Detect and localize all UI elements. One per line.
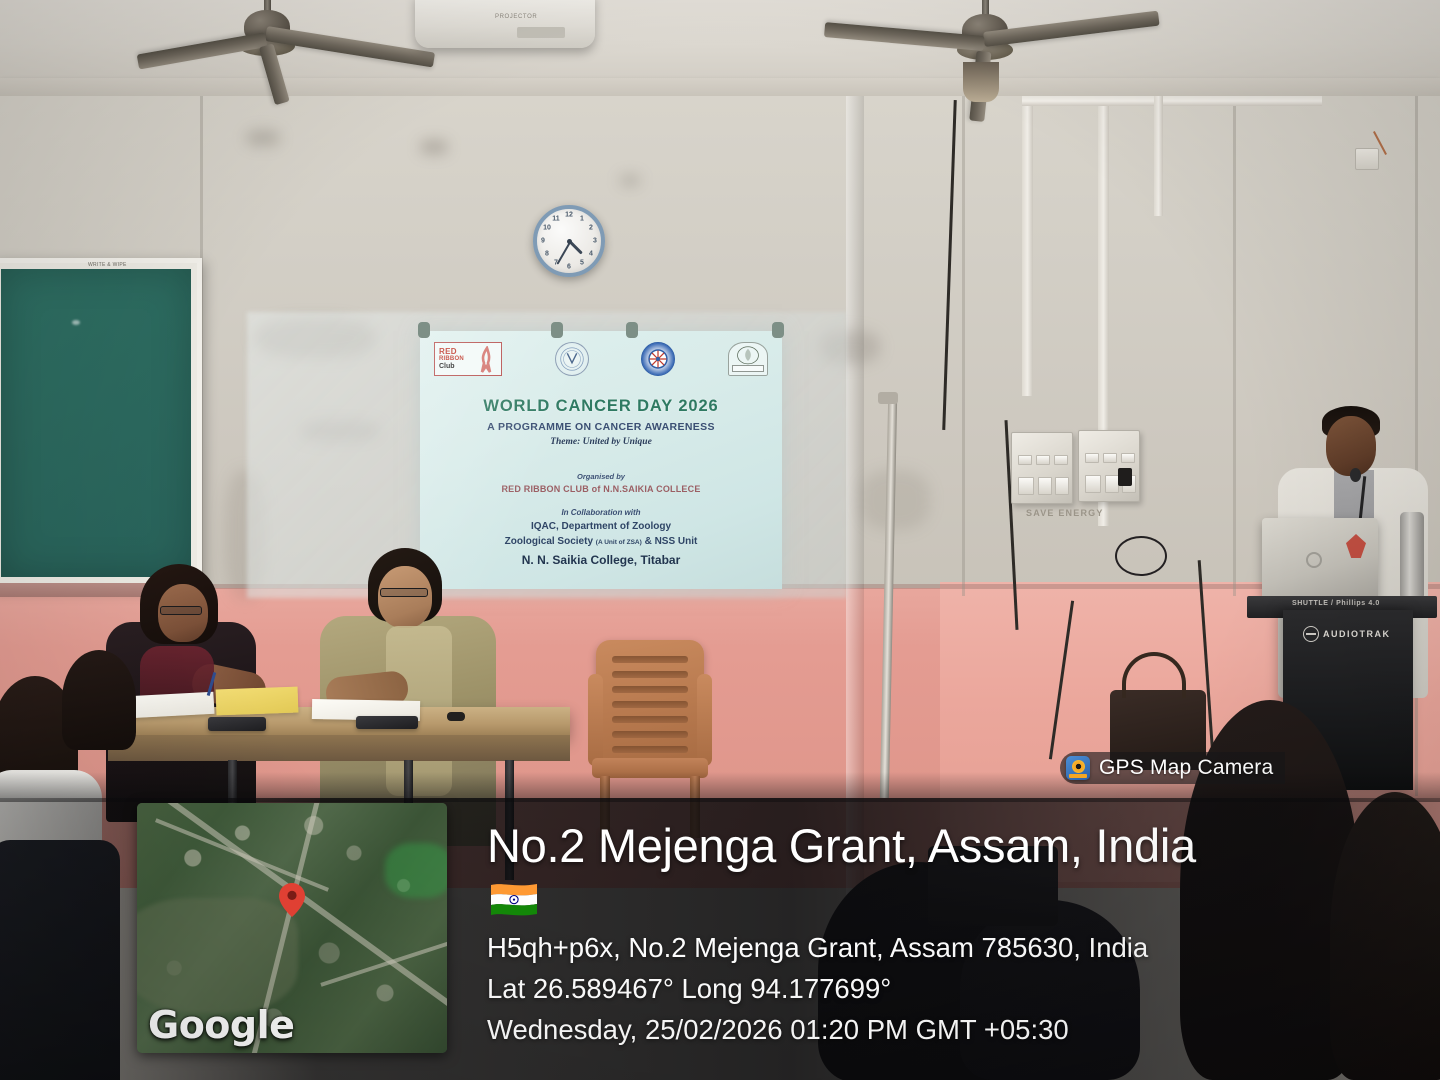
- gps-map-camera-app-icon: [1066, 756, 1090, 780]
- chalkboard-brand-label: WRITE & WIPE: [88, 262, 127, 268]
- google-watermark: Google: [148, 1003, 294, 1047]
- green-chalkboard: [0, 258, 202, 588]
- screen-clip: [772, 322, 784, 338]
- water-bottle: [1400, 512, 1424, 598]
- chalkboard-surface: [1, 269, 191, 577]
- map-open-field: [137, 898, 298, 1013]
- wall-socket: [1355, 148, 1379, 170]
- wall-grime-7: [620, 175, 640, 186]
- chair-slat: [612, 686, 688, 693]
- yellow-notebook: [216, 687, 299, 716]
- college-crest-logo: [728, 342, 768, 376]
- socket[interactable]: [1055, 477, 1069, 495]
- audience-member: [62, 650, 136, 750]
- wall-grime-8: [246, 130, 280, 146]
- fan-light-shade: [963, 62, 999, 102]
- save-energy-wall-text: SAVE ENERGY: [1026, 508, 1104, 518]
- emblem-inner-icon: [556, 343, 588, 375]
- slide-collab-line1: IQAC, Department of Zoology: [420, 521, 782, 532]
- clock-number: 6: [563, 264, 575, 271]
- clock-number: 3: [589, 238, 601, 245]
- chair-arm-left: [588, 674, 603, 766]
- map-vegetation-patch: [385, 843, 447, 898]
- chair-arm-right: [697, 674, 712, 766]
- collab-society-unit: (A Unit of ZSA): [596, 539, 642, 546]
- clock-number: 8: [541, 251, 553, 258]
- projector-vent: [517, 27, 565, 38]
- wall-grime-6: [420, 140, 448, 154]
- slide-theme: Theme: United by Unique: [420, 437, 782, 447]
- ceiling-fan-right: [950, 0, 1020, 66]
- ceiling-fan-left: [232, 0, 302, 62]
- coiled-wire-loop: [1115, 536, 1167, 576]
- chair-slat: [612, 701, 688, 708]
- gps-map-thumbnail[interactable]: Google: [137, 803, 447, 1053]
- slide-subtitle: A PROGRAMME ON CANCER AWARENESS: [420, 421, 782, 433]
- slide-title: WORLD CANCER DAY 2026: [420, 397, 782, 416]
- laptop-sticker: [1346, 534, 1366, 558]
- projector-brand-text: PROJECTOR: [495, 14, 537, 20]
- red-ribbon-icon: [478, 346, 496, 374]
- clock-center-pin: [567, 239, 572, 244]
- mobile-phone: [208, 717, 266, 731]
- clock-number: 10: [541, 225, 553, 232]
- switch[interactable]: [1036, 455, 1050, 465]
- socket[interactable]: [1018, 477, 1034, 495]
- chalk-mark: [72, 320, 80, 325]
- gps-location-title: No.2 Mejenga Grant, Assam, India: [487, 818, 1196, 873]
- plug-in-socket: [1118, 468, 1132, 486]
- clock-number: 12: [563, 212, 575, 219]
- gps-map-camera-badge[interactable]: GPS Map Camera: [1060, 752, 1285, 784]
- switch[interactable]: [1018, 455, 1032, 465]
- wall-conduit-vertical-1: [1022, 96, 1033, 396]
- clock-number: 5: [576, 260, 588, 267]
- chair-slat: [612, 731, 688, 738]
- blue-chakra-wheel-logo: [641, 342, 675, 376]
- collab-society-tail: & NSS Unit: [645, 536, 698, 547]
- paper-sheet: [127, 692, 214, 718]
- gps-badge-label: GPS Map Camera: [1099, 756, 1273, 780]
- gps-address-line: H5qh+p6x, No.2 Mejenga Grant, Assam 7856…: [487, 932, 1148, 964]
- switch[interactable]: [1085, 453, 1099, 463]
- electrical-box-right[interactable]: [1078, 430, 1140, 502]
- woman-right-face: [378, 566, 432, 628]
- screen-clip: [418, 322, 430, 338]
- chair-backrest: [596, 640, 704, 762]
- wall-seam-c: [1233, 96, 1236, 596]
- podium-upper-brand-text: SHUTTLE / Phillips 4.0: [1292, 600, 1380, 607]
- red-ribbon-club-logo: RED RIBBON Club: [434, 342, 502, 376]
- chair-slat: [612, 746, 688, 753]
- gps-datetime-line: Wednesday, 25/02/2026 01:20 PM GMT +05:3…: [487, 1014, 1069, 1046]
- slide-collab-label: In Collaboration with: [420, 508, 782, 517]
- app-icon-strip: [1069, 774, 1087, 778]
- wall-conduit-vertical-3: [1154, 96, 1163, 216]
- photo-canvas: PROJECTOR 12 1 2 3 4 5 6 7 8 9 10 11 WRI…: [0, 0, 1440, 1080]
- audiotrak-logo-icon: [1303, 626, 1319, 642]
- screen-clip: [626, 322, 638, 338]
- camera-lens-icon: [1072, 760, 1085, 773]
- microphone-head: [1350, 468, 1361, 482]
- chair-slat: [612, 656, 688, 663]
- clock-number: 9: [537, 238, 549, 245]
- wall-conduit-horizontal: [1022, 96, 1322, 106]
- switch[interactable]: [1054, 455, 1068, 465]
- clock-minute-hand: [557, 242, 571, 265]
- woman-right-glasses: [380, 588, 428, 597]
- woman-left-glasses: [160, 606, 202, 615]
- clock-number: 11: [550, 216, 562, 223]
- socket[interactable]: [1105, 475, 1119, 493]
- podium-brand-text: AUDIOTRAK: [1323, 629, 1391, 639]
- slide-organiser: RED RIBBON CLUB of N.N.SAIKIA COLLECE: [420, 484, 782, 494]
- gps-coordinates-line: Lat 26.589467° Long 94.177699°: [487, 973, 891, 1005]
- chair-slat: [612, 671, 688, 678]
- head-table-skirt: [108, 735, 570, 761]
- red-location-pin: [279, 883, 305, 917]
- screen-clip: [551, 322, 563, 338]
- switch[interactable]: [1121, 453, 1135, 463]
- switch[interactable]: [1103, 453, 1117, 463]
- speaker-face: [1326, 416, 1376, 476]
- clock-number: 1: [576, 216, 588, 223]
- chakra-spokes-icon: [642, 343, 674, 375]
- socket[interactable]: [1085, 475, 1101, 493]
- marker-cap: [447, 712, 465, 721]
- clock-number: 4: [585, 251, 597, 258]
- slide-organised-label: Organised by: [420, 472, 782, 481]
- crest-nameplate: [732, 365, 764, 372]
- chair-slat: [612, 716, 688, 723]
- electrical-box-left[interactable]: [1011, 432, 1073, 504]
- wall-seam-b: [962, 96, 965, 596]
- socket[interactable]: [1038, 477, 1052, 495]
- ceiling-projector: PROJECTOR: [415, 0, 595, 48]
- clock-number: 2: [585, 225, 597, 232]
- slide-logo-row: RED RIBBON Club: [428, 337, 774, 381]
- slide-collab-line2: Zoological Society (A Unit of ZSA) & NSS…: [420, 536, 782, 547]
- laptop-brand-icon: [1306, 552, 1322, 568]
- india-flag-icon: [489, 881, 539, 917]
- mobile-phone: [356, 716, 418, 729]
- laptop-on-podium: [1262, 518, 1378, 600]
- collab-society-name: Zoological Society: [505, 536, 593, 547]
- wall-clock: 12 1 2 3 4 5 6 7 8 9 10 11: [533, 205, 605, 277]
- circular-emblem-logo: [555, 342, 589, 376]
- metal-pole-top: [878, 392, 898, 404]
